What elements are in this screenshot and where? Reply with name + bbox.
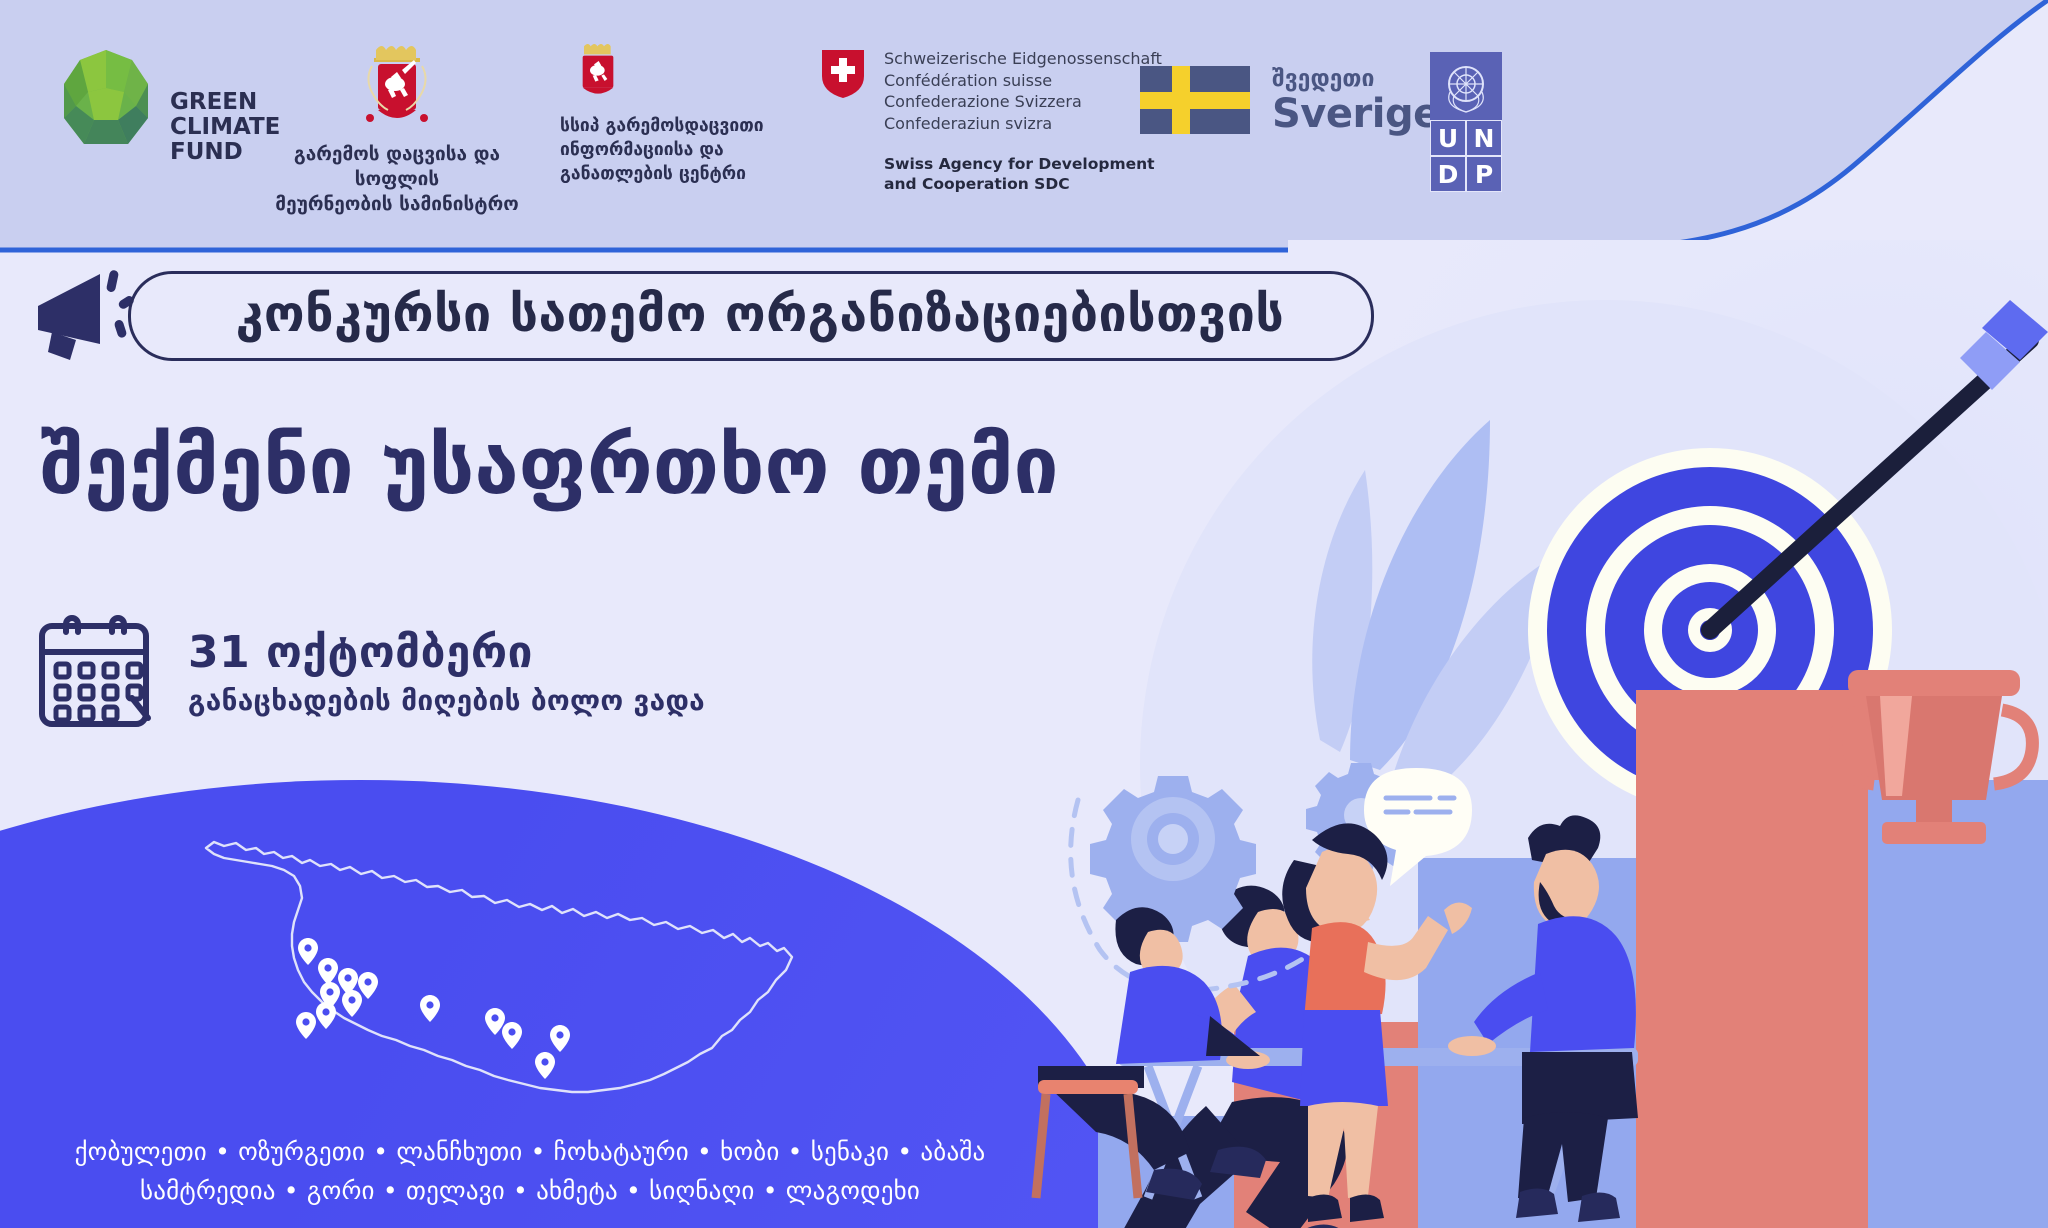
municipality-line-1: ქობულეთი • ოზურგეთი • ლანჩხუთი • ჩოხატაუ… xyxy=(0,1132,1060,1171)
deadline-date: 31 ოქტომბერი xyxy=(188,627,533,678)
logo-sweden: შვედეთი Sverige xyxy=(1140,66,1440,135)
logo-swiss-agency-caption: Swiss Agency for Development and Coopera… xyxy=(884,154,1162,194)
sweden-flag-icon xyxy=(1140,66,1250,134)
logo-ministry-environment: გარემოს დაცვისა და სოფლის მეურნეობის სამ… xyxy=(272,40,522,217)
undp-letter-n: N xyxy=(1466,120,1502,156)
municipality-list: ქობულეთი • ოზურგეთი • ლანჩხუთი • ჩოხატაუ… xyxy=(0,1132,1060,1210)
location-pin-icon xyxy=(296,1012,316,1039)
logo-sweden-caption: შვედეთი Sverige xyxy=(1272,66,1440,135)
georgia-coat-of-arms-icon xyxy=(358,40,436,130)
swiss-line-fr: Confédération suisse xyxy=(884,70,1162,92)
location-pin-icon xyxy=(342,990,362,1017)
partner-logo-row: GREEN CLIMATE FUND xyxy=(0,0,1560,250)
deadline-note: განაცხადების მიღების ბოლო ვადა xyxy=(188,684,705,717)
location-pin-icon xyxy=(502,1022,522,1049)
location-pin-icon xyxy=(420,995,440,1022)
swiss-line-it: Confederazione Svizzera xyxy=(884,91,1162,113)
swiss-line-rm: Confederaziun svizra xyxy=(884,113,1162,135)
seated-man-with-laptop xyxy=(1036,907,1270,1200)
swiss-agency-line-1: Swiss Agency for Development xyxy=(884,154,1162,174)
location-pin-icon xyxy=(550,1025,570,1052)
leaf-shapes xyxy=(1312,420,1565,800)
location-pin-icon xyxy=(318,958,338,985)
undp-letter-d: D xyxy=(1430,156,1466,192)
standing-woman-presenting xyxy=(1282,823,1472,1222)
logo-environmental-info-centre: სსიპ გარემოსდაცვითი ინფორმაციისა და განა… xyxy=(560,40,775,186)
georgia-map xyxy=(150,830,850,1130)
logo-info-centre-caption: სსიპ გარემოსდაცვითი ინფორმაციისა და განა… xyxy=(560,114,775,186)
swiss-shield-icon xyxy=(820,48,866,100)
gcf-line-2: CLIMATE xyxy=(170,115,280,140)
municipality-line-2: სამტრედია • გორი • თელავი • ახმეტა • სიღ… xyxy=(0,1171,1060,1210)
undp-letter-u: U xyxy=(1430,120,1466,156)
centre-line-1: სსიპ გარემოსდაცვითი xyxy=(560,114,775,138)
logo-undp: U N D P xyxy=(1430,52,1502,192)
location-pin-icon xyxy=(535,1052,555,1079)
un-laurel-icon xyxy=(1430,52,1502,120)
centre-line-2: ინფორმაციისა და xyxy=(560,138,775,162)
georgia-map-outline xyxy=(150,830,850,1130)
location-pin-icon xyxy=(316,1002,336,1029)
location-pin-icon xyxy=(298,938,318,965)
calendar-icon xyxy=(36,612,160,730)
georgia-coat-of-arms-icon xyxy=(572,40,624,102)
logo-ministry-caption: გარემოს დაცვისა და სოფლის მეურნეობის სამ… xyxy=(272,142,522,217)
poster-canvas: GREEN CLIMATE FUND xyxy=(0,0,2048,1228)
centre-line-3: განათლების ცენტრი xyxy=(560,162,775,186)
gcf-line-3: FUND xyxy=(170,140,280,165)
logo-swiss-sdc: Schweizerische Eidgenossenschaft Confédé… xyxy=(820,48,1162,194)
undp-letter-p: P xyxy=(1466,156,1502,192)
ministry-line-2: მეურნეობის სამინისტრო xyxy=(272,192,522,217)
team-meeting-illustration xyxy=(1020,760,1740,1228)
bearded-man-icon xyxy=(1448,815,1638,1222)
green-gem-icon xyxy=(58,48,154,152)
sweden-label-en: Sverige xyxy=(1272,93,1440,135)
gcf-line-1: GREEN xyxy=(170,90,280,115)
swiss-agency-line-2: and Cooperation SDC xyxy=(884,174,1162,194)
swiss-line-de: Schweizerische Eidgenossenschaft xyxy=(884,48,1162,70)
logo-gcf-caption: GREEN CLIMATE FUND xyxy=(170,90,280,165)
undp-letter-grid: U N D P xyxy=(1430,120,1502,192)
sweden-label-ka: შვედეთი xyxy=(1272,66,1440,93)
logo-swiss-caption: Schweizerische Eidgenossenschaft Confédé… xyxy=(884,48,1162,194)
logo-green-climate-fund: GREEN CLIMATE FUND xyxy=(58,48,280,165)
ministry-line-1: გარემოს დაცვისა და სოფლის xyxy=(272,142,522,192)
